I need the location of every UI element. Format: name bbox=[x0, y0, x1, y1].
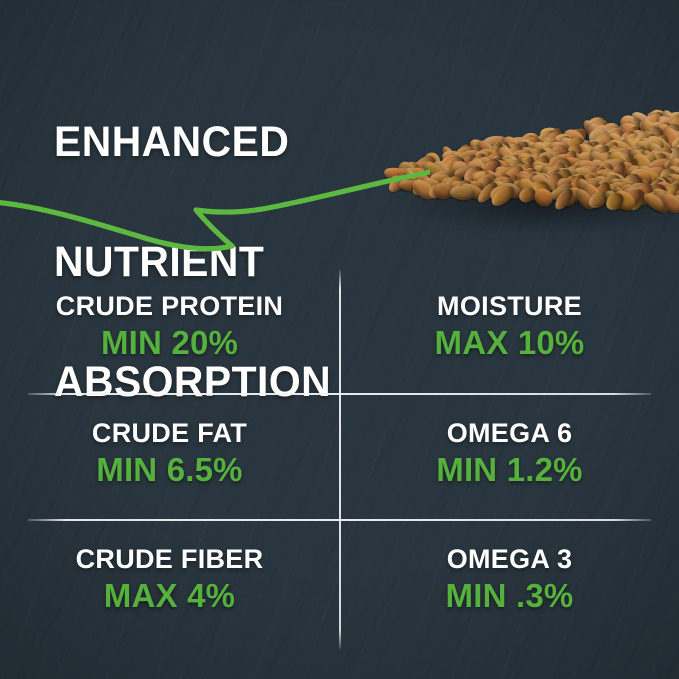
nutrition-label: CRUDE FIBER bbox=[0, 543, 339, 575]
nutrition-value: MAX 10% bbox=[340, 324, 679, 362]
curved-arrow-icon bbox=[0, 160, 430, 270]
headline-line-1: ENHANCED bbox=[54, 122, 331, 162]
nutrition-cell-crude-protein: CRUDE PROTEIN MIN 20% bbox=[0, 290, 339, 362]
nutrition-value: MIN 1.2% bbox=[340, 451, 679, 489]
nutrition-label: CRUDE PROTEIN bbox=[0, 290, 339, 322]
nutrition-label: OMEGA 6 bbox=[340, 417, 679, 449]
nutrition-cell-crude-fiber: CRUDE FIBER MAX 4% bbox=[0, 543, 339, 615]
nutrition-cell-crude-fat: CRUDE FAT MIN 6.5% bbox=[0, 417, 339, 489]
nutrition-label: MOISTURE bbox=[340, 290, 679, 322]
nutrition-value: MAX 4% bbox=[0, 577, 339, 615]
nutrient-absorption-poster: ENHANCED NUTRIENT ABSORPTION CRUDE PROTE… bbox=[0, 0, 679, 679]
nutrition-value: MIN 20% bbox=[0, 324, 339, 362]
nutrition-cell-omega-6: OMEGA 6 MIN 1.2% bbox=[340, 417, 679, 489]
nutrition-grid: CRUDE PROTEIN MIN 20% MOISTURE MAX 10% C… bbox=[0, 262, 679, 662]
nutrition-value: MIN 6.5% bbox=[0, 451, 339, 489]
nutrition-value: MIN .3% bbox=[340, 577, 679, 615]
nutrition-cell-omega-3: OMEGA 3 MIN .3% bbox=[340, 543, 679, 615]
nutrition-label: CRUDE FAT bbox=[0, 417, 339, 449]
nutrition-cell-moisture: MOISTURE MAX 10% bbox=[340, 290, 679, 362]
nutrition-label: OMEGA 3 bbox=[340, 543, 679, 575]
